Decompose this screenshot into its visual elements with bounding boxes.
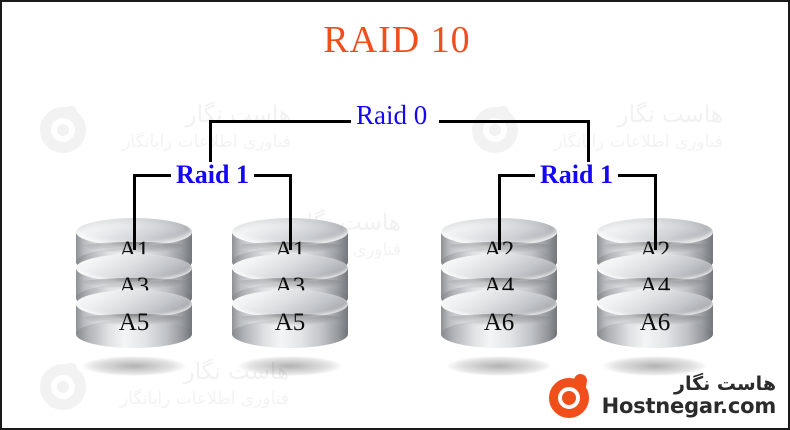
brand-name-en: Hostnegar.com xyxy=(602,395,776,417)
watermark-text: هاست نگار فناوری اطلاعات رایانگار xyxy=(122,102,291,152)
raid1-left-label: Raid 1 xyxy=(171,162,254,188)
watermark-text: هاست نگار فناوری اطلاعات رایانگار xyxy=(554,102,723,152)
hostnegar-icon xyxy=(549,374,593,418)
page-title: RAID 10 xyxy=(2,18,790,62)
disk-stem-3 xyxy=(498,220,501,250)
raid1-left-drop-b xyxy=(289,174,292,222)
brand-name-fa: هاست نگار xyxy=(602,375,776,395)
disk-block-label: A6 xyxy=(597,310,713,335)
disk-block: A6 xyxy=(441,290,557,342)
disk-block-label: A5 xyxy=(232,310,348,335)
raid0-label: Raid 0 xyxy=(351,102,432,129)
brand-text: هاست نگار Hostnegar.com xyxy=(602,375,776,417)
raid1-right-drop-b xyxy=(654,174,657,222)
watermark-line1: هاست نگار xyxy=(122,102,291,128)
raid10-diagram-image: هاست نگار فناوری اطلاعات رایانگار هاست ن… xyxy=(0,0,790,430)
raid1-right-bar-b xyxy=(613,174,657,177)
watermark-line1: هاست نگار xyxy=(554,102,723,128)
raid0-bar-left xyxy=(209,120,359,123)
raid1-right-drop-a xyxy=(498,174,501,222)
disk-block: A5 xyxy=(232,290,348,342)
raid1-left-bar-b xyxy=(248,174,292,177)
disk-stem-4 xyxy=(654,220,657,250)
watermark-line2: فناوری اطلاعات رایانگار xyxy=(122,132,291,152)
watermark-line2: فناوری اطلاعات رایانگار xyxy=(554,132,723,152)
disk-shadow xyxy=(447,356,551,376)
disk-shadow xyxy=(82,356,186,376)
watermark-line2: فناوری اطلاعات رایانگار xyxy=(120,389,289,409)
watermark-logo xyxy=(40,364,86,410)
disk-block: A5 xyxy=(76,290,192,342)
watermark-logo xyxy=(40,107,86,153)
raid1-right-label: Raid 1 xyxy=(535,162,618,188)
disk-block: A6 xyxy=(597,290,713,342)
brand-logo: هاست نگار Hostnegar.com xyxy=(549,374,776,418)
raid1-left-drop-a xyxy=(133,174,136,222)
disk-block-label: A5 xyxy=(76,310,192,335)
watermark-logo xyxy=(472,107,518,153)
raid0-bar-right xyxy=(439,120,590,123)
disk-block-label: A6 xyxy=(441,310,557,335)
disk-stem-2 xyxy=(289,220,292,250)
disk-stem-1 xyxy=(133,220,136,250)
disk-shadow xyxy=(238,356,342,376)
